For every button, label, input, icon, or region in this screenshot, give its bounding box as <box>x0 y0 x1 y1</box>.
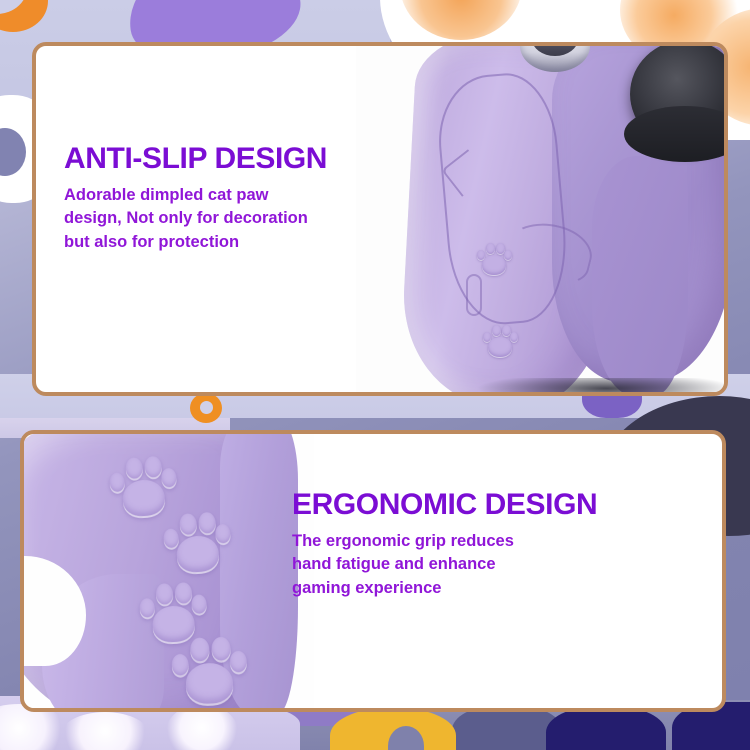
paw-toe <box>163 528 179 548</box>
paw-toe <box>190 637 210 661</box>
anti-slip-body: Adorable dimpled cat paw design, Not onl… <box>64 184 444 254</box>
paw-toe <box>504 250 512 260</box>
anti-slip-body-line: design, Not only for decoration <box>64 207 444 230</box>
feature-card-anti-slip: ANTI-SLIP DESIGN Adorable dimpled cat pa… <box>32 42 728 396</box>
photo-bottom-shadow <box>476 378 724 392</box>
ergonomic-body-line: The ergonomic grip reduces <box>292 530 712 553</box>
paw-toe <box>230 651 248 673</box>
ergonomic-body-line: gaming experience <box>292 577 712 600</box>
ergonomic-headline: ERGONOMIC DESIGN <box>292 488 712 521</box>
paw-print-emboss-icon <box>476 242 512 276</box>
anti-slip-headline: ANTI-SLIP DESIGN <box>64 142 444 175</box>
navy-blob-shape <box>546 706 666 750</box>
paw-toe <box>144 456 162 478</box>
feature-card-ergonomic: ERGONOMIC DESIGN The ergonomic grip redu… <box>20 430 726 712</box>
paw-toe <box>211 637 231 661</box>
paw-toe <box>198 512 216 534</box>
anti-slip-body-line: Adorable dimpled cat paw <box>64 184 444 207</box>
grip-groove-detail <box>466 274 482 316</box>
paw-toe <box>174 582 192 604</box>
paw-pad <box>482 255 506 275</box>
controller-grip-edge <box>592 156 688 392</box>
paw-toe <box>510 332 518 342</box>
paw-toe <box>161 468 177 488</box>
ergonomic-body: The ergonomic grip reduces hand fatigue … <box>292 530 712 600</box>
paw-toe <box>139 598 155 618</box>
controller-grip-paw-dimples-photo <box>24 434 314 708</box>
ergonomic-body-line: hand fatigue and enhance <box>292 553 712 576</box>
orange-ring-hole <box>200 401 213 414</box>
paw-pad <box>176 535 220 574</box>
paw-print-emboss-icon <box>108 454 178 520</box>
paw-print-emboss-icon <box>162 510 232 576</box>
paw-toe <box>179 513 197 535</box>
anti-slip-text-block: ANTI-SLIP DESIGN Adorable dimpled cat pa… <box>64 142 444 254</box>
anti-slip-body-line: but also for protection <box>64 231 444 254</box>
paw-pad <box>185 662 233 704</box>
paw-toe <box>492 325 501 336</box>
paw-print-emboss-icon <box>482 324 518 358</box>
paw-pad <box>488 337 512 357</box>
paw-toe <box>109 472 125 492</box>
paw-toe <box>171 654 189 676</box>
paw-toe <box>125 457 143 479</box>
paw-toe <box>215 524 231 544</box>
paw-print-emboss-icon <box>171 635 247 707</box>
paw-pad <box>122 479 166 518</box>
paw-toe <box>155 583 173 605</box>
paw-toe <box>486 243 495 254</box>
paw-toe <box>191 594 207 614</box>
ergonomic-text-block: ERGONOMIC DESIGN The ergonomic grip redu… <box>292 488 712 600</box>
